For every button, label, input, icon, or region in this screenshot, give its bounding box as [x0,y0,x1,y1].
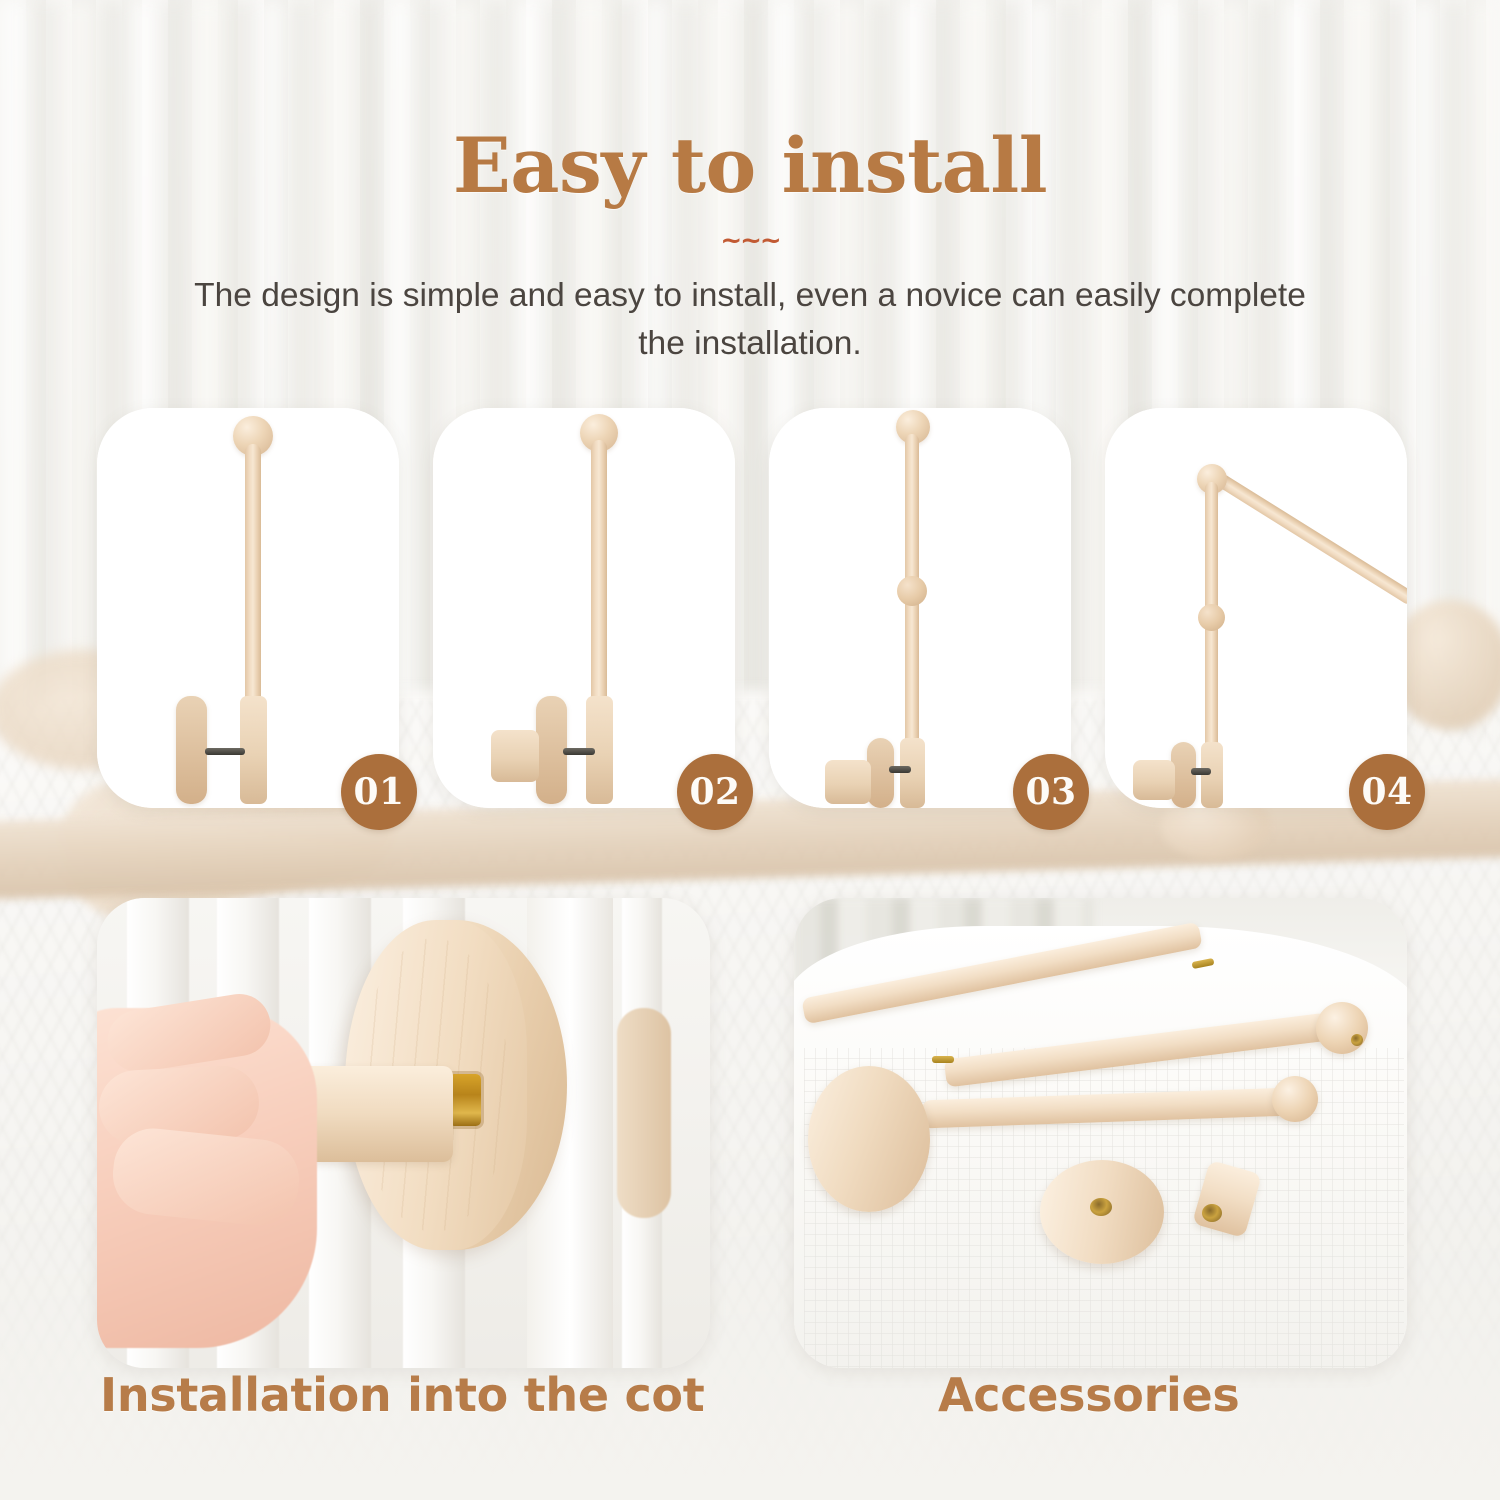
step-badge-02: 02 [677,754,753,830]
step-card-03[interactable]: 03 [769,408,1071,808]
accessory-disc [808,1066,930,1212]
screw-bolt-icon [563,748,595,755]
wood-disc-edge [867,738,894,808]
page-title: Easy to install [0,0,1500,204]
screw-bolt-icon [205,748,245,755]
cot-wood-strip [617,1008,671,1218]
accessory-ball-end-icon [1272,1076,1318,1122]
caption-accessories: Accessories [938,1368,1239,1422]
step-card-02[interactable]: 02 [433,408,735,808]
infographic-page: Easy to install ~~~ The design is simple… [0,0,1500,1500]
wood-disc-edge [176,696,207,804]
step-card-01-image [97,408,399,808]
screw-bolt-icon [889,766,911,773]
header: Easy to install ~~~ The design is simple… [0,0,1500,367]
caption-installation: Installation into the cot [100,1368,704,1422]
inserted-peg [491,730,539,782]
inserted-peg [1133,760,1175,800]
step-card-04-image [1105,408,1407,808]
screw-bolt-icon [1191,768,1211,775]
photos-row [97,898,1407,1368]
horizontal-top-rod [1206,467,1407,606]
page-subtitle: The design is simple and easy to install… [185,272,1315,367]
step-card-03-image [769,408,1071,808]
photo-accessories[interactable] [794,898,1407,1368]
accessory-base-screw-hole [1090,1198,1112,1216]
step-badge-03: 03 [1013,754,1089,830]
rod-joint-connector-icon [897,576,927,606]
captions-row: Installation into the cot Accessories [0,1368,1500,1448]
rod-base-collar [1201,742,1223,808]
rod-joint-connector-icon [1198,604,1225,631]
step-cards-row: 01 02 03 [97,408,1407,808]
photo-installation[interactable] [97,898,710,1368]
rod-base-collar [900,738,925,808]
accessory-peg-screw-hole [1202,1204,1222,1222]
step-badge-04: 04 [1349,754,1425,830]
step-card-02-image [433,408,735,808]
inserted-peg [825,760,871,804]
brass-tip-icon [932,1056,954,1063]
accessory-ball-end-icon [1316,1002,1368,1054]
step-badge-01: 01 [341,754,417,830]
step-card-01[interactable]: 01 [97,408,399,808]
brass-screw-icon [449,1074,481,1126]
step-card-04[interactable]: 04 [1105,408,1407,808]
squiggle-divider-icon: ~~~ [705,230,795,252]
accessory-ball-socket [1351,1034,1363,1046]
